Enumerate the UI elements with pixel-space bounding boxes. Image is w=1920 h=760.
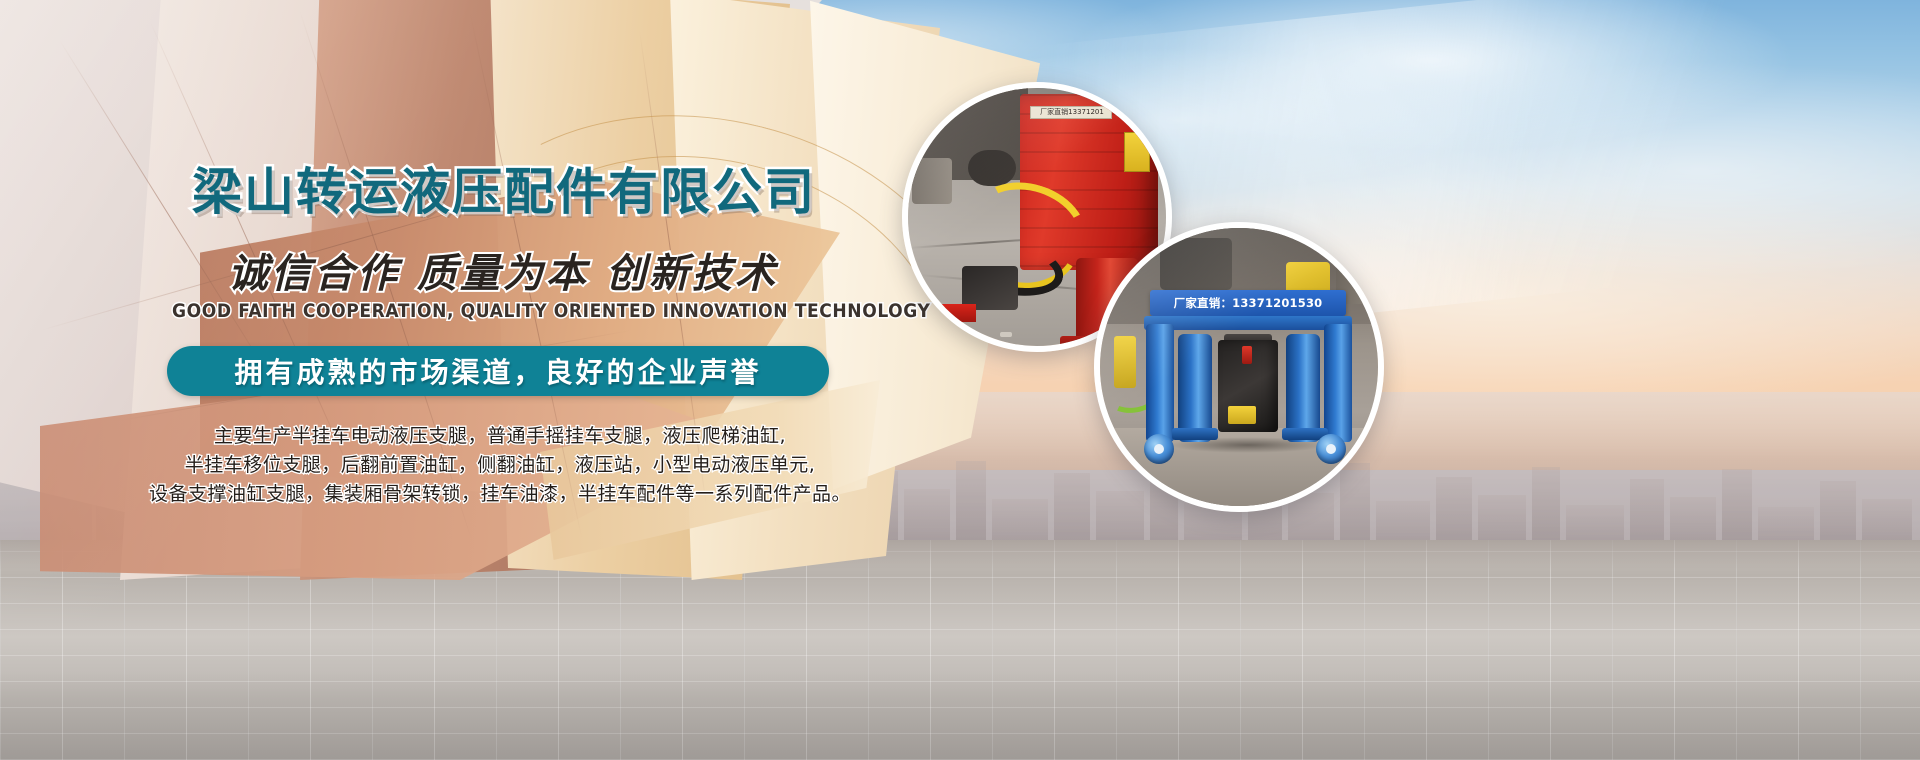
blue-machine-label-text: 厂家直销：13371201530 xyxy=(1174,295,1323,311)
slogan-english: GOOD FAITH COOPERATION, QUALITY ORIENTED… xyxy=(172,299,930,323)
description-line: 设备支撑油缸支腿，集装厢骨架转锁，挂车油漆，半挂车配件等一系列配件产品。 xyxy=(0,480,1000,509)
description-paragraph: 主要生产半挂车电动液压支腿，普通手摇挂车支腿，液压爬梯油缸, 半挂车移位支腿，后… xyxy=(0,422,1000,509)
slogan-chinese: 诚信合作 质量为本 创新技术 xyxy=(228,250,778,298)
page-title: 梁山转运液压配件有限公司 xyxy=(192,163,816,221)
blue-machine-label: 厂家直销：13371201530 xyxy=(1150,290,1346,316)
highlight-pill-banner: 拥有成熟的市场渠道，良好的企业声誉 xyxy=(167,346,829,396)
hero-text-block: 梁山转运液压配件有限公司 诚信合作 质量为本 创新技术 GOOD FAITH C… xyxy=(0,0,1000,620)
description-line: 半挂车移位支腿，后翻前置油缸，侧翻油缸，液压站，小型电动液压单元, xyxy=(0,451,1000,480)
description-line: 主要生产半挂车电动液压支腿，普通手摇挂车支腿，液压爬梯油缸, xyxy=(0,422,1000,451)
red-machine-decal-text: 厂家直销13371201 xyxy=(1032,106,1112,118)
blue-hydraulic-legs-photo: 厂家直销：13371201530 xyxy=(1094,222,1384,512)
hero-banner: 梁山转运液压配件有限公司 诚信合作 质量为本 创新技术 GOOD FAITH C… xyxy=(0,0,1920,760)
highlight-pill-text: 拥有成熟的市场渠道，良好的企业声誉 xyxy=(234,351,761,391)
